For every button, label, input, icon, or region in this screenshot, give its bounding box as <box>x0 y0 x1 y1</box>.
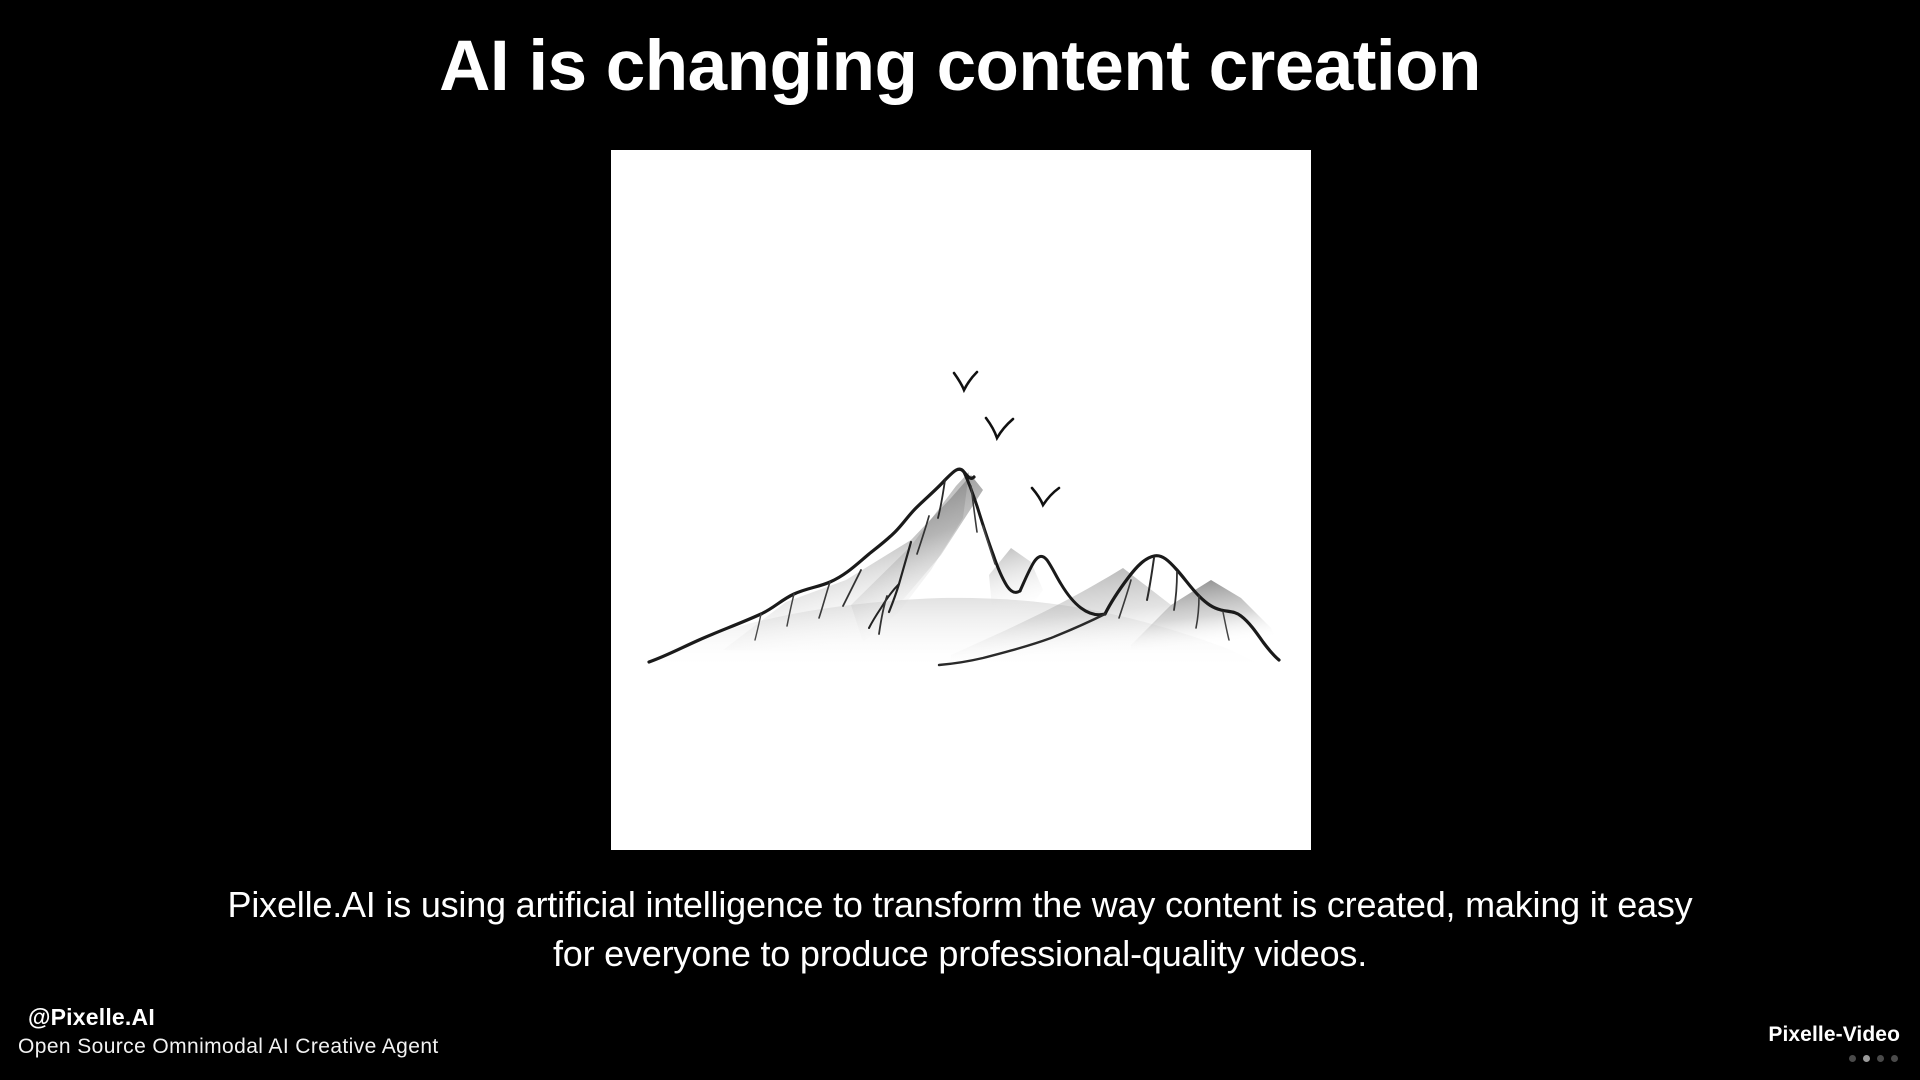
brand-block: @Pixelle.AI Open Source Omnimodal AI Cre… <box>18 1002 439 1062</box>
brand-tagline: Open Source Omnimodal AI Creative Agent <box>18 1032 439 1062</box>
page-dot-3[interactable] <box>1877 1055 1884 1062</box>
brand-handle: @Pixelle.AI <box>18 1002 439 1032</box>
caption-line-2: for everyone to produce professional-qua… <box>96 929 1824 978</box>
page-title: AI is changing content creation <box>0 26 1920 108</box>
page-dot-1[interactable] <box>1849 1055 1856 1062</box>
watermark-label: Pixelle-Video <box>1768 1022 1900 1048</box>
slide-canvas: AI is changing content creation <box>0 0 1920 1080</box>
page-dot-4[interactable] <box>1891 1055 1898 1062</box>
page-indicator-dots <box>1768 1055 1900 1062</box>
media-image <box>611 150 1311 850</box>
caption-text: Pixelle.AI is using artificial intellige… <box>96 880 1824 978</box>
mountain-sketch-icon <box>611 150 1311 850</box>
watermark-block: Pixelle-Video <box>1768 1022 1900 1062</box>
caption-line-1: Pixelle.AI is using artificial intellige… <box>96 880 1824 929</box>
page-dot-2[interactable] <box>1863 1055 1870 1062</box>
